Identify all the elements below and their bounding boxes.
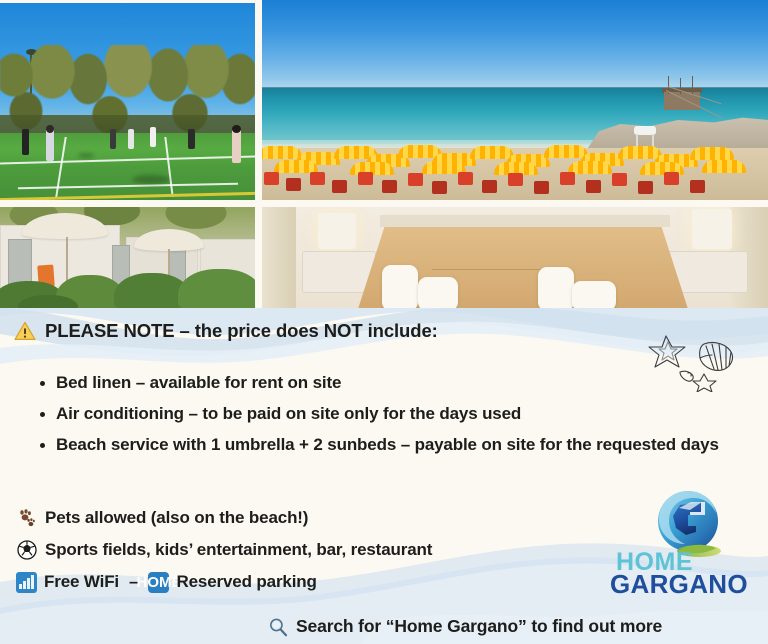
sunbed bbox=[534, 181, 549, 194]
bedroom-photo bbox=[262, 207, 768, 308]
ground-shadow bbox=[78, 153, 94, 158]
curtain bbox=[262, 207, 296, 308]
bedside-lamp bbox=[692, 209, 732, 249]
sunbed bbox=[332, 180, 347, 193]
sunbed bbox=[408, 173, 423, 186]
beach-photo bbox=[262, 0, 768, 200]
sunbed bbox=[664, 172, 679, 185]
beach-umbrella bbox=[702, 160, 746, 173]
trabucco-mast bbox=[680, 78, 681, 94]
sunbed bbox=[586, 180, 601, 193]
bungalow-door bbox=[8, 239, 32, 285]
sunbed bbox=[264, 172, 279, 185]
sunbed bbox=[458, 172, 473, 185]
ground-shadow bbox=[132, 175, 170, 184]
player bbox=[128, 129, 134, 149]
player bbox=[150, 127, 156, 147]
list-item: Bed linen – available for rent on site bbox=[34, 370, 724, 396]
nightstand bbox=[302, 251, 376, 293]
logo-text-gargano: GARGANO bbox=[610, 571, 748, 597]
amenity-sports-row: Sports fields, kids’ entertainment, bar,… bbox=[16, 538, 432, 562]
sunbed bbox=[358, 172, 373, 185]
rolled-towel bbox=[418, 277, 458, 308]
sports-field-photo bbox=[0, 3, 255, 200]
beach-umbrella bbox=[618, 146, 662, 159]
player bbox=[232, 125, 241, 133]
sunbed bbox=[382, 180, 397, 193]
amenity-label: Pets allowed (also on the beach!) bbox=[45, 508, 308, 528]
player bbox=[46, 129, 54, 161]
bedside-lamp bbox=[318, 213, 356, 249]
amenity-label: Sports fields, kids’ entertainment, bar,… bbox=[45, 540, 432, 560]
headboard bbox=[380, 215, 670, 227]
photo-collage bbox=[0, 0, 768, 308]
sunbed bbox=[432, 181, 447, 194]
parasol-pole bbox=[66, 237, 68, 283]
search-label: Search for “Home Gargano” to find out mo… bbox=[296, 616, 662, 637]
signal-bars-icon bbox=[16, 572, 37, 593]
sunbed bbox=[690, 180, 705, 193]
notice-heading-row: PLEASE NOTE – the price does NOT include… bbox=[14, 320, 438, 342]
bed-seam bbox=[432, 269, 552, 270]
amenities-list: Pets allowed (also on the beach!) Sports… bbox=[16, 506, 432, 602]
player bbox=[232, 129, 241, 163]
search-call-to-action[interactable]: Search for “Home Gargano” to find out mo… bbox=[268, 616, 662, 637]
player bbox=[110, 129, 116, 149]
beach-umbrella bbox=[690, 147, 734, 160]
soccer-ball-icon bbox=[16, 539, 38, 561]
sunbed bbox=[638, 181, 653, 194]
bungalow-photo bbox=[0, 207, 255, 308]
sunbed bbox=[508, 173, 523, 186]
info-panel: PLEASE NOTE – the price does NOT include… bbox=[0, 308, 768, 644]
player bbox=[46, 125, 54, 133]
magnifier-icon bbox=[268, 617, 288, 637]
wifi-label: Free WiFi bbox=[44, 572, 119, 592]
beach-umbrella bbox=[544, 145, 588, 158]
beach-umbrella bbox=[262, 146, 302, 159]
home-gargano-logo[interactable]: HOME GARGANO bbox=[610, 488, 760, 600]
flyer-page: PLEASE NOTE – the price does NOT include… bbox=[0, 0, 768, 644]
beach-umbrella bbox=[470, 146, 514, 159]
sunbed bbox=[310, 172, 325, 185]
hedge bbox=[178, 269, 255, 308]
player bbox=[22, 129, 29, 155]
parking-label: Reserved parking bbox=[176, 572, 316, 592]
sunbed bbox=[612, 173, 627, 186]
sunbed bbox=[286, 178, 301, 191]
rolled-towel bbox=[538, 267, 574, 308]
exclusions-list: Bed linen – available for rent on site A… bbox=[34, 370, 724, 463]
amenity-pets-row: Pets allowed (also on the beach!) bbox=[16, 506, 432, 530]
parking-p-icon: HOME bbox=[148, 572, 169, 593]
sunbed bbox=[482, 180, 497, 193]
list-item: Beach service with 1 umbrella + 2 sunbed… bbox=[34, 432, 724, 458]
sunbed bbox=[560, 172, 575, 185]
amenity-wifi-parking-row: Free WiFi – HOME Reserved parking bbox=[16, 570, 432, 594]
list-item: Air conditioning – to be paid on site on… bbox=[34, 401, 724, 427]
trabucco-mast bbox=[692, 76, 693, 94]
page-title: PLEASE NOTE – the price does NOT include… bbox=[45, 320, 438, 342]
rolled-towel bbox=[382, 265, 418, 308]
rolled-towel bbox=[572, 281, 616, 308]
warning-triangle-icon bbox=[14, 321, 36, 341]
player bbox=[188, 129, 195, 149]
paw-prints-icon bbox=[16, 507, 38, 529]
trabucco-pier-icon bbox=[650, 76, 710, 110]
